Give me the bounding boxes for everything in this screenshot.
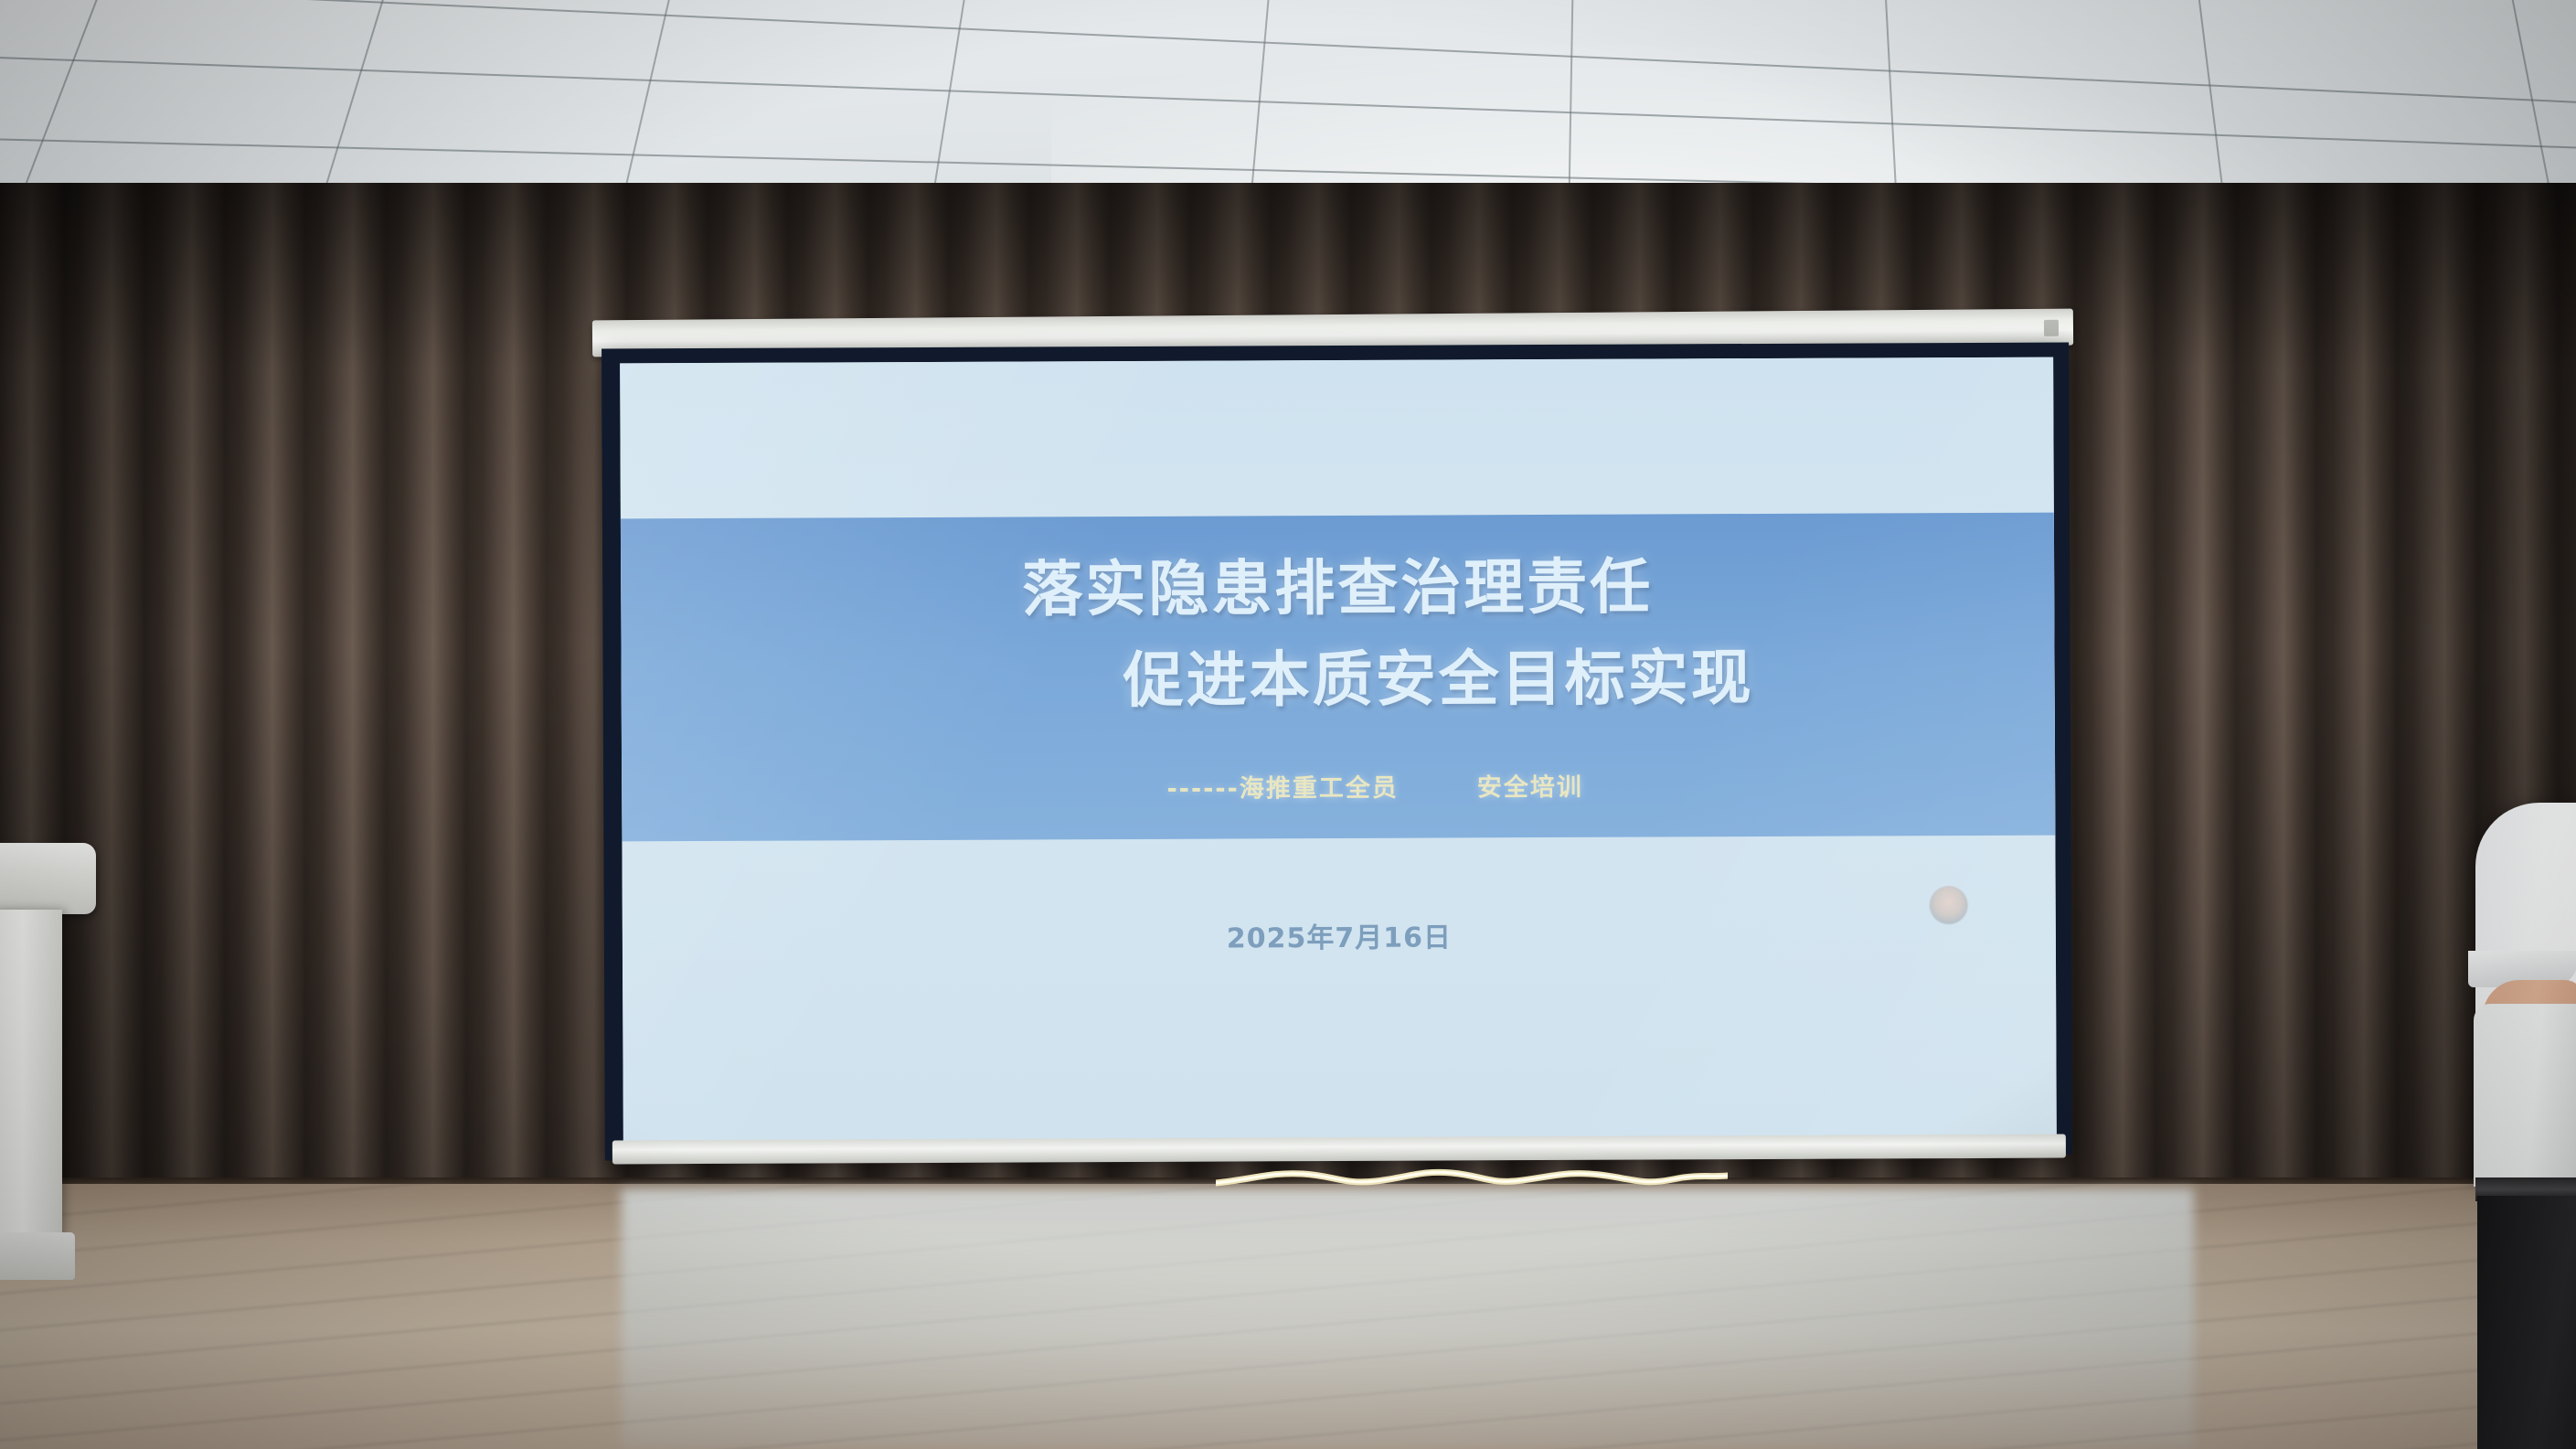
floor-projector-spill xyxy=(622,1188,2194,1449)
projector-screen: 落实隐患排查治理责任 促进本质安全目标实现 ------海推重工全员 安全培训 … xyxy=(601,343,2072,1161)
room-photo-scene: 落实隐患排查治理责任 促进本质安全目标实现 ------海推重工全员 安全培训 … xyxy=(0,0,2576,1449)
presenter-avatar-icon xyxy=(1930,886,1968,924)
lectern-top xyxy=(0,843,96,914)
slide-date: 2025年7月16日 xyxy=(623,912,2056,959)
slide-title-line-2: 促进本质安全目标实现 xyxy=(621,627,2056,721)
lectern-base xyxy=(0,1232,75,1280)
presentation-slide: 落实隐患排查治理责任 促进本质安全目标实现 ------海推重工全员 安全培训 … xyxy=(620,357,2057,1143)
projector-screen-surface: 落实隐患排查治理责任 促进本质安全目标实现 ------海推重工全员 安全培训 … xyxy=(620,357,2057,1143)
slide-credit-topic: 安全培训 xyxy=(1477,766,1693,803)
person-shirt-hem xyxy=(2474,1004,2576,1187)
person-trousers xyxy=(2477,1196,2576,1449)
slide-credits: ------海推重工全员 安全培训 xyxy=(622,765,2055,807)
decorative-light-strand xyxy=(1216,1163,1728,1194)
slide-credit-organization: ------海推重工全员 xyxy=(984,768,1398,805)
housing-end-cap xyxy=(2044,320,2059,336)
slide-title-line-1: 落实隐患排查治理责任 xyxy=(621,537,2054,631)
lectern-column xyxy=(0,910,62,1239)
